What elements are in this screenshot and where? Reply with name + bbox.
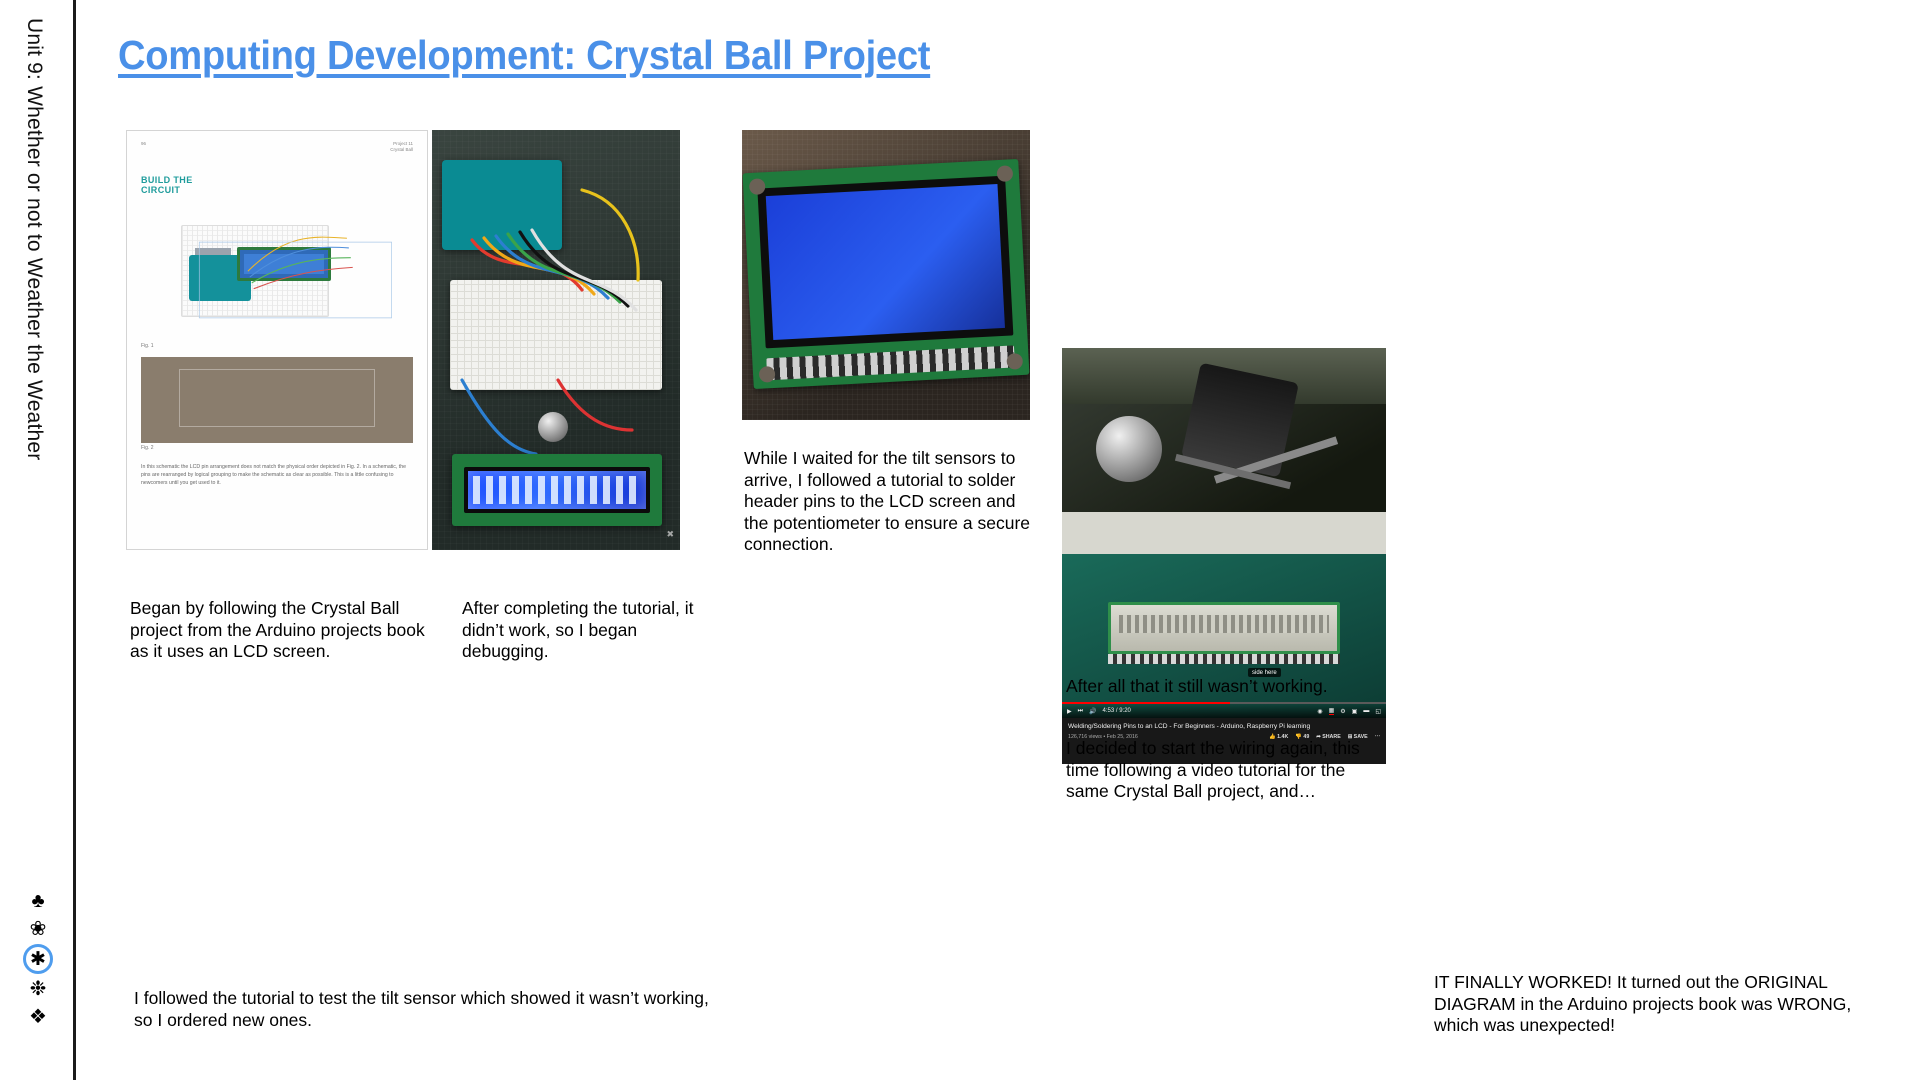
component-round — [538, 412, 568, 442]
book-fig2-caption: Fig. 2 — [141, 445, 413, 451]
book-heading-line2: CIRCUIT — [141, 185, 180, 195]
photo-youtube-solder: side here ▶ ⏭ 🔊 4:53 / 9:20 ◉ ▦ ⚙ ▣ ▬ ◱ … — [1062, 550, 1386, 764]
subtitles-icon[interactable]: ▦ — [1329, 707, 1335, 715]
wires-illustration — [141, 213, 413, 337]
snowflake-icon[interactable]: ❉ — [23, 976, 53, 1002]
book-project-name: Crystal Ball — [390, 147, 413, 152]
book-heading-line1: BUILD THE — [141, 175, 193, 185]
book-page-number: 96 — [141, 141, 146, 153]
video-time: 4:53 / 9:20 — [1103, 708, 1131, 714]
coin-cell — [1096, 416, 1162, 482]
photo-first-build: ✖ — [432, 130, 680, 550]
left-rail: Unit 9: Whether or not to Weather the We… — [0, 0, 76, 1080]
caption-waited: While I waited for the tilt sensors to a… — [744, 448, 1044, 556]
photo-arduino-book-page: 96 Project 11 Crystal Ball BUILD THE CIR… — [126, 130, 428, 550]
book-project-label: Project 11 — [393, 141, 413, 146]
lcd-in-video — [1108, 602, 1340, 654]
book-fig1-caption: Fig. 1 — [141, 343, 413, 349]
photo-soldering-closeup — [1062, 348, 1386, 554]
lcd-screen — [464, 467, 650, 513]
more-options-icon[interactable]: ⋯ — [1375, 734, 1380, 740]
flower-icon[interactable]: ❀ — [23, 916, 53, 942]
settings-gear-icon[interactable]: ⚙ — [1340, 708, 1345, 715]
lcd-block-row — [473, 476, 641, 504]
photo-watermark: ✖ — [666, 529, 674, 540]
clover-icon[interactable]: ♣ — [23, 888, 53, 914]
unit-label: Unit 9: Whether or not to Weather the We… — [22, 18, 46, 858]
asterisk-icon[interactable]: ✱ — [23, 944, 53, 974]
caption-tilt-test: I followed the tutorial to test the tilt… — [134, 988, 714, 1031]
caption-began: Began by following the Crystal Ball proj… — [130, 598, 448, 663]
miniplayer-icon[interactable]: ▣ — [1352, 708, 1358, 715]
lcd-module-bare — [743, 159, 1030, 389]
caption-still-not-working: After all that it still wasn’t working. — [1066, 676, 1386, 698]
volume-icon[interactable]: 🔊 — [1089, 708, 1096, 715]
autoplay-icon[interactable]: ◉ — [1317, 708, 1322, 715]
caption-rewire: I decided to start the wiring again, thi… — [1066, 738, 1374, 803]
slide-canvas: Unit 9: Whether or not to Weather the We… — [0, 0, 1920, 1080]
slide-nav-icons: ♣ ❀ ✱ ❉ ❖ — [0, 888, 76, 1030]
video-title[interactable]: Welding/Soldering Pins to an LCD - For B… — [1068, 722, 1380, 731]
video-controls[interactable]: ▶ ⏭ 🔊 4:53 / 9:20 ◉ ▦ ⚙ ▣ ▬ ◱ — [1062, 704, 1386, 718]
header-pins — [1108, 654, 1340, 664]
play-icon[interactable]: ▶ — [1067, 708, 1072, 715]
lcd-module — [452, 454, 662, 526]
caption-after-tutorial: After completing the tutorial, it didn’t… — [462, 598, 720, 663]
page-title: Computing Development: Crystal Ball Proj… — [118, 32, 930, 79]
book-schematic-figure — [141, 357, 413, 443]
diamond-icon[interactable]: ❖ — [23, 1004, 53, 1030]
book-figure-1 — [141, 213, 413, 341]
fullscreen-icon[interactable]: ◱ — [1375, 708, 1381, 715]
photo-lcd-closeup — [742, 130, 1030, 420]
theater-icon[interactable]: ▬ — [1363, 708, 1369, 714]
book-body-text: In this schematic the LCD pin arrangemen… — [141, 463, 413, 487]
caption-finally-worked: IT FINALLY WORKED! It turned out the ORI… — [1434, 972, 1858, 1037]
next-icon[interactable]: ⏭ — [1078, 708, 1083, 715]
